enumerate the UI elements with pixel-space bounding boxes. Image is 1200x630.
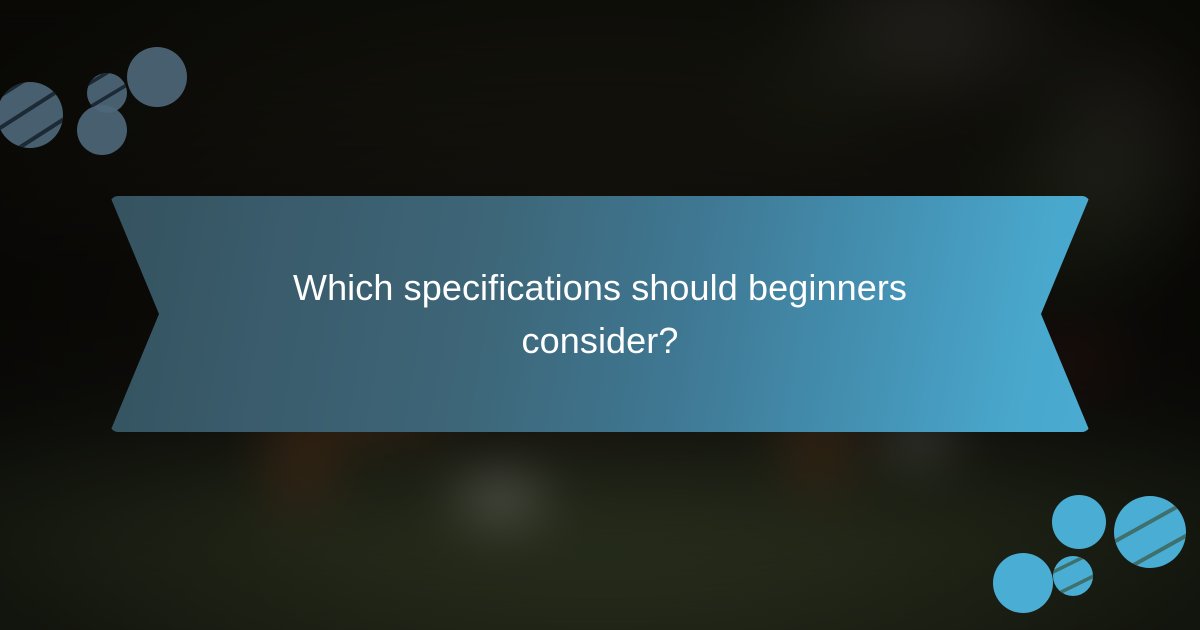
circle-striped-small (1045, 544, 1110, 600)
circle-solid-medium (1052, 495, 1106, 549)
ribbon-banner: Which specifications should beginners co… (110, 196, 1090, 432)
circle-solid-large (993, 553, 1053, 613)
circle-solid-large (127, 47, 187, 107)
circle-solid-medium (77, 105, 127, 155)
ribbon-banner-text-area: Which specifications should beginners co… (110, 196, 1090, 432)
circle-striped-large (0, 48, 75, 165)
decoration-circles-bottom-right (985, 470, 1200, 630)
decoration-circles-top-left (0, 20, 205, 165)
share-card: Which specifications should beginners co… (0, 0, 1200, 630)
circle-striped-large (1103, 470, 1200, 582)
page-title: Which specifications should beginners co… (255, 261, 945, 368)
